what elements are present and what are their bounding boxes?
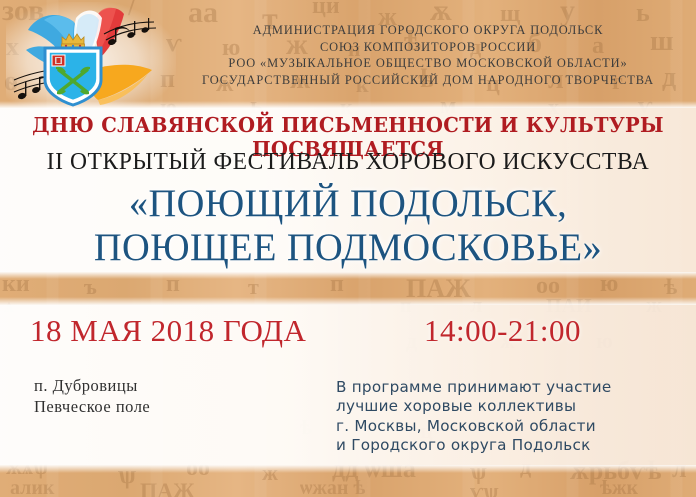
venue-line-1: п. Дубровицы <box>34 375 150 396</box>
poster-title-line-2: поющее Подмосковье» <box>5 226 691 270</box>
festival-poster: зов / аа т ци ж ѫ щ у ь х к ѵ ю ж н ѣ д … <box>0 0 696 497</box>
organizer-line-3: РОО «Музыкальное общество Московской обл… <box>172 55 684 72</box>
organizer-line-2: Союз композиторов России <box>172 39 684 56</box>
program-line-3: г. Москвы, Московской области <box>336 417 612 436</box>
event-time: 14:00-21:00 <box>424 313 581 349</box>
program-line-1: В программе принимают участие <box>336 378 612 397</box>
organizers-list: Администрация городского округа Подольск… <box>172 22 684 88</box>
program-line-2: лучшие хоровые коллективы <box>336 397 612 416</box>
event-date: 18 мая 2018 года <box>30 313 306 349</box>
program-block: В программе принимают участие лучшие хор… <box>336 378 612 456</box>
venue-block: п. Дубровицы Певческое поле <box>34 375 150 417</box>
program-line-4: и Городского округа Подольск <box>336 436 612 455</box>
venue-line-2: Певческое поле <box>34 396 150 417</box>
festival-emblem <box>12 4 162 110</box>
poster-title-line-1: «Поющий Подольск, <box>5 182 691 226</box>
festival-subtitle: II Открытый фестиваль хорового искусства <box>14 148 682 176</box>
organizer-line-4: Государственный Российский Дом народного… <box>172 72 684 89</box>
organizer-line-1: Администрация городского округа Подольск <box>172 22 684 39</box>
poster-title: «Поющий Подольск, поющее Подмосковье» <box>5 182 691 270</box>
